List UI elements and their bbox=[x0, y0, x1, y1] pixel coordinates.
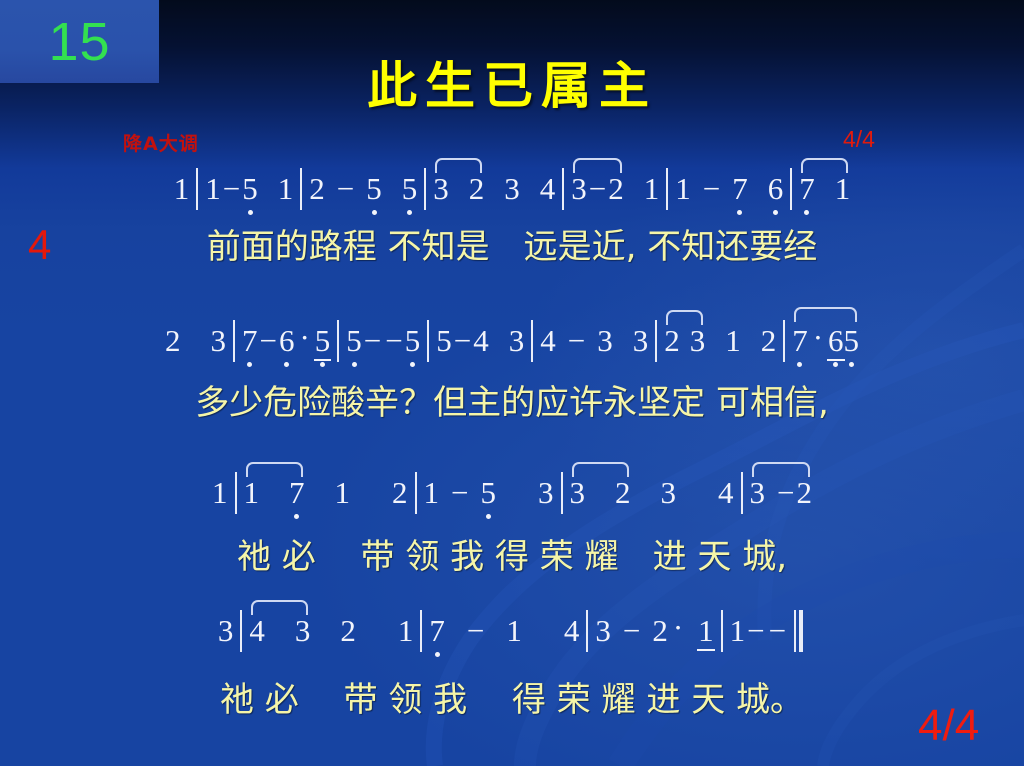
notation-line-3: 117121−5332343−2 bbox=[0, 472, 1024, 514]
score-system-4: 343217−143−2·11−− 祂 必 带 领 我 得 荣 耀 进 天 城。 bbox=[0, 610, 1024, 717]
page-title: 此生已属主 bbox=[0, 46, 1024, 118]
key-signature-label: 降A大调 bbox=[123, 129, 199, 156]
notation-line-1: 11−512−5532343−211−7671 bbox=[0, 168, 1024, 210]
notation-line-2: 237−6·55−−55−434−3323127·65 bbox=[0, 320, 1024, 362]
lyrics-line-4: 祂 必 带 领 我 得 荣 耀 进 天 城。 bbox=[0, 683, 1024, 717]
lyrics-line-3: 祂 必 带 领 我 得 荣 耀 进 天 城, bbox=[0, 540, 1024, 574]
time-signature-top: 4/4 bbox=[843, 126, 875, 153]
score-system-3: 117121−5332343−2 祂 必 带 领 我 得 荣 耀 进 天 城, bbox=[0, 472, 1024, 574]
notation-line-4: 343217−143−2·11−− bbox=[0, 610, 1024, 657]
score-system-2: 237−6·55−−55−434−3323127·65 多少危险酸辛？但主的应许… bbox=[0, 320, 1024, 420]
slide-canvas: 15 此生已属主 降A大调 4/4 4 11−512−5532343−211−7… bbox=[0, 0, 1024, 766]
lyrics-line-1: 前面的路程 不知是 远是近, 不知还要经 bbox=[0, 230, 1024, 264]
score-system-1: 11−512−5532343−211−7671 前面的路程 不知是 远是近, 不… bbox=[0, 168, 1024, 264]
final-barline bbox=[794, 610, 806, 657]
time-signature-bottom: 4/4 bbox=[918, 704, 979, 748]
lyrics-line-2: 多少危险酸辛？但主的应许永坚定 可相信, bbox=[0, 386, 1024, 420]
